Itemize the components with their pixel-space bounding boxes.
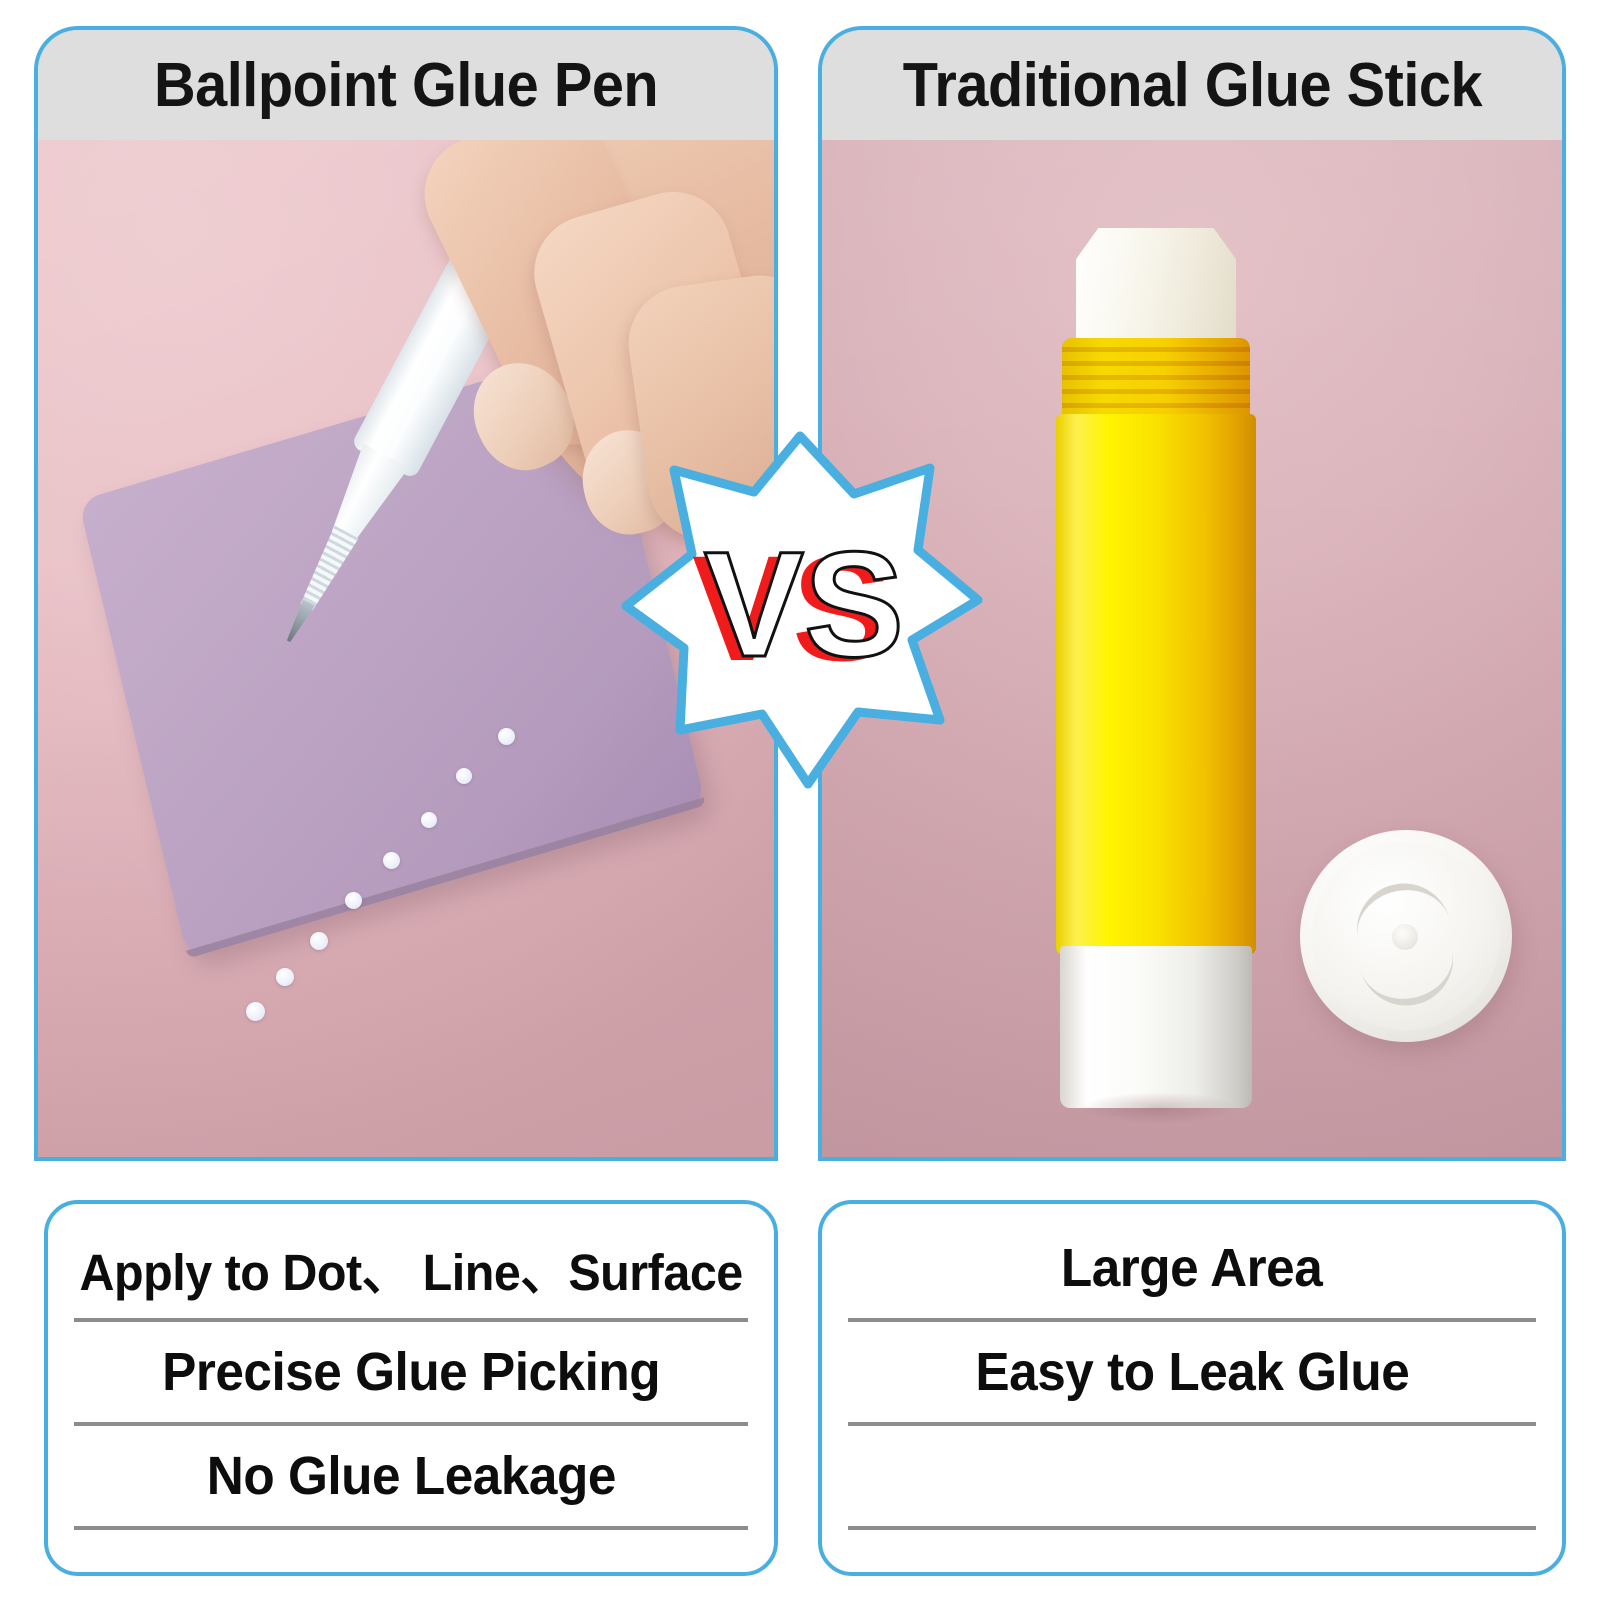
feature-row-empty — [848, 1426, 1536, 1530]
glue-stick-white-base — [1060, 946, 1252, 1108]
glue-plug — [1076, 228, 1236, 348]
feature-box-glue-pen: Apply to Dot、 Line、Surface Precise Glue … — [44, 1200, 778, 1576]
vs-star-svg: VS VS — [622, 432, 978, 788]
glue-stick-shadow — [1050, 1090, 1266, 1126]
feature-text: Precise Glue Picking — [162, 1341, 660, 1403]
glue-stick-threads — [1062, 338, 1250, 422]
pen-metal-grip — [291, 524, 361, 616]
glue-stick-object — [1050, 228, 1262, 1108]
feature-box-glue-stick: Large Area Easy to Leak Glue — [818, 1200, 1566, 1576]
feature-text: Easy to Leak Glue — [975, 1341, 1409, 1403]
feature-row: Easy to Leak Glue — [848, 1322, 1536, 1426]
feature-text: No Glue Leakage — [206, 1445, 615, 1507]
feature-text: Large Area — [1061, 1237, 1322, 1299]
feature-row: Precise Glue Picking — [74, 1322, 748, 1426]
feature-row: Apply to Dot、 Line、Surface — [74, 1218, 748, 1322]
panel-header-right: Traditional Glue Stick — [822, 30, 1562, 140]
cap-center-dot — [1392, 924, 1418, 950]
panel-header-left: Ballpoint Glue Pen — [38, 30, 774, 140]
feature-row: No Glue Leakage — [74, 1426, 748, 1530]
glue-stick-cap — [1300, 830, 1512, 1042]
pen-ball-tip — [281, 598, 318, 645]
panel-title-left: Ballpoint Glue Pen — [154, 50, 658, 121]
vs-text: VS — [704, 520, 904, 688]
feature-text: Apply to Dot、 Line、Surface — [79, 1231, 742, 1305]
glue-stick-yellow-body — [1056, 414, 1256, 954]
panel-title-right: Traditional Glue Stick — [902, 50, 1481, 121]
vs-badge: VS VS — [622, 432, 978, 788]
feature-row: Large Area — [848, 1218, 1536, 1322]
comparison-infographic: Ballpoint Glue Pen — [0, 0, 1600, 1600]
